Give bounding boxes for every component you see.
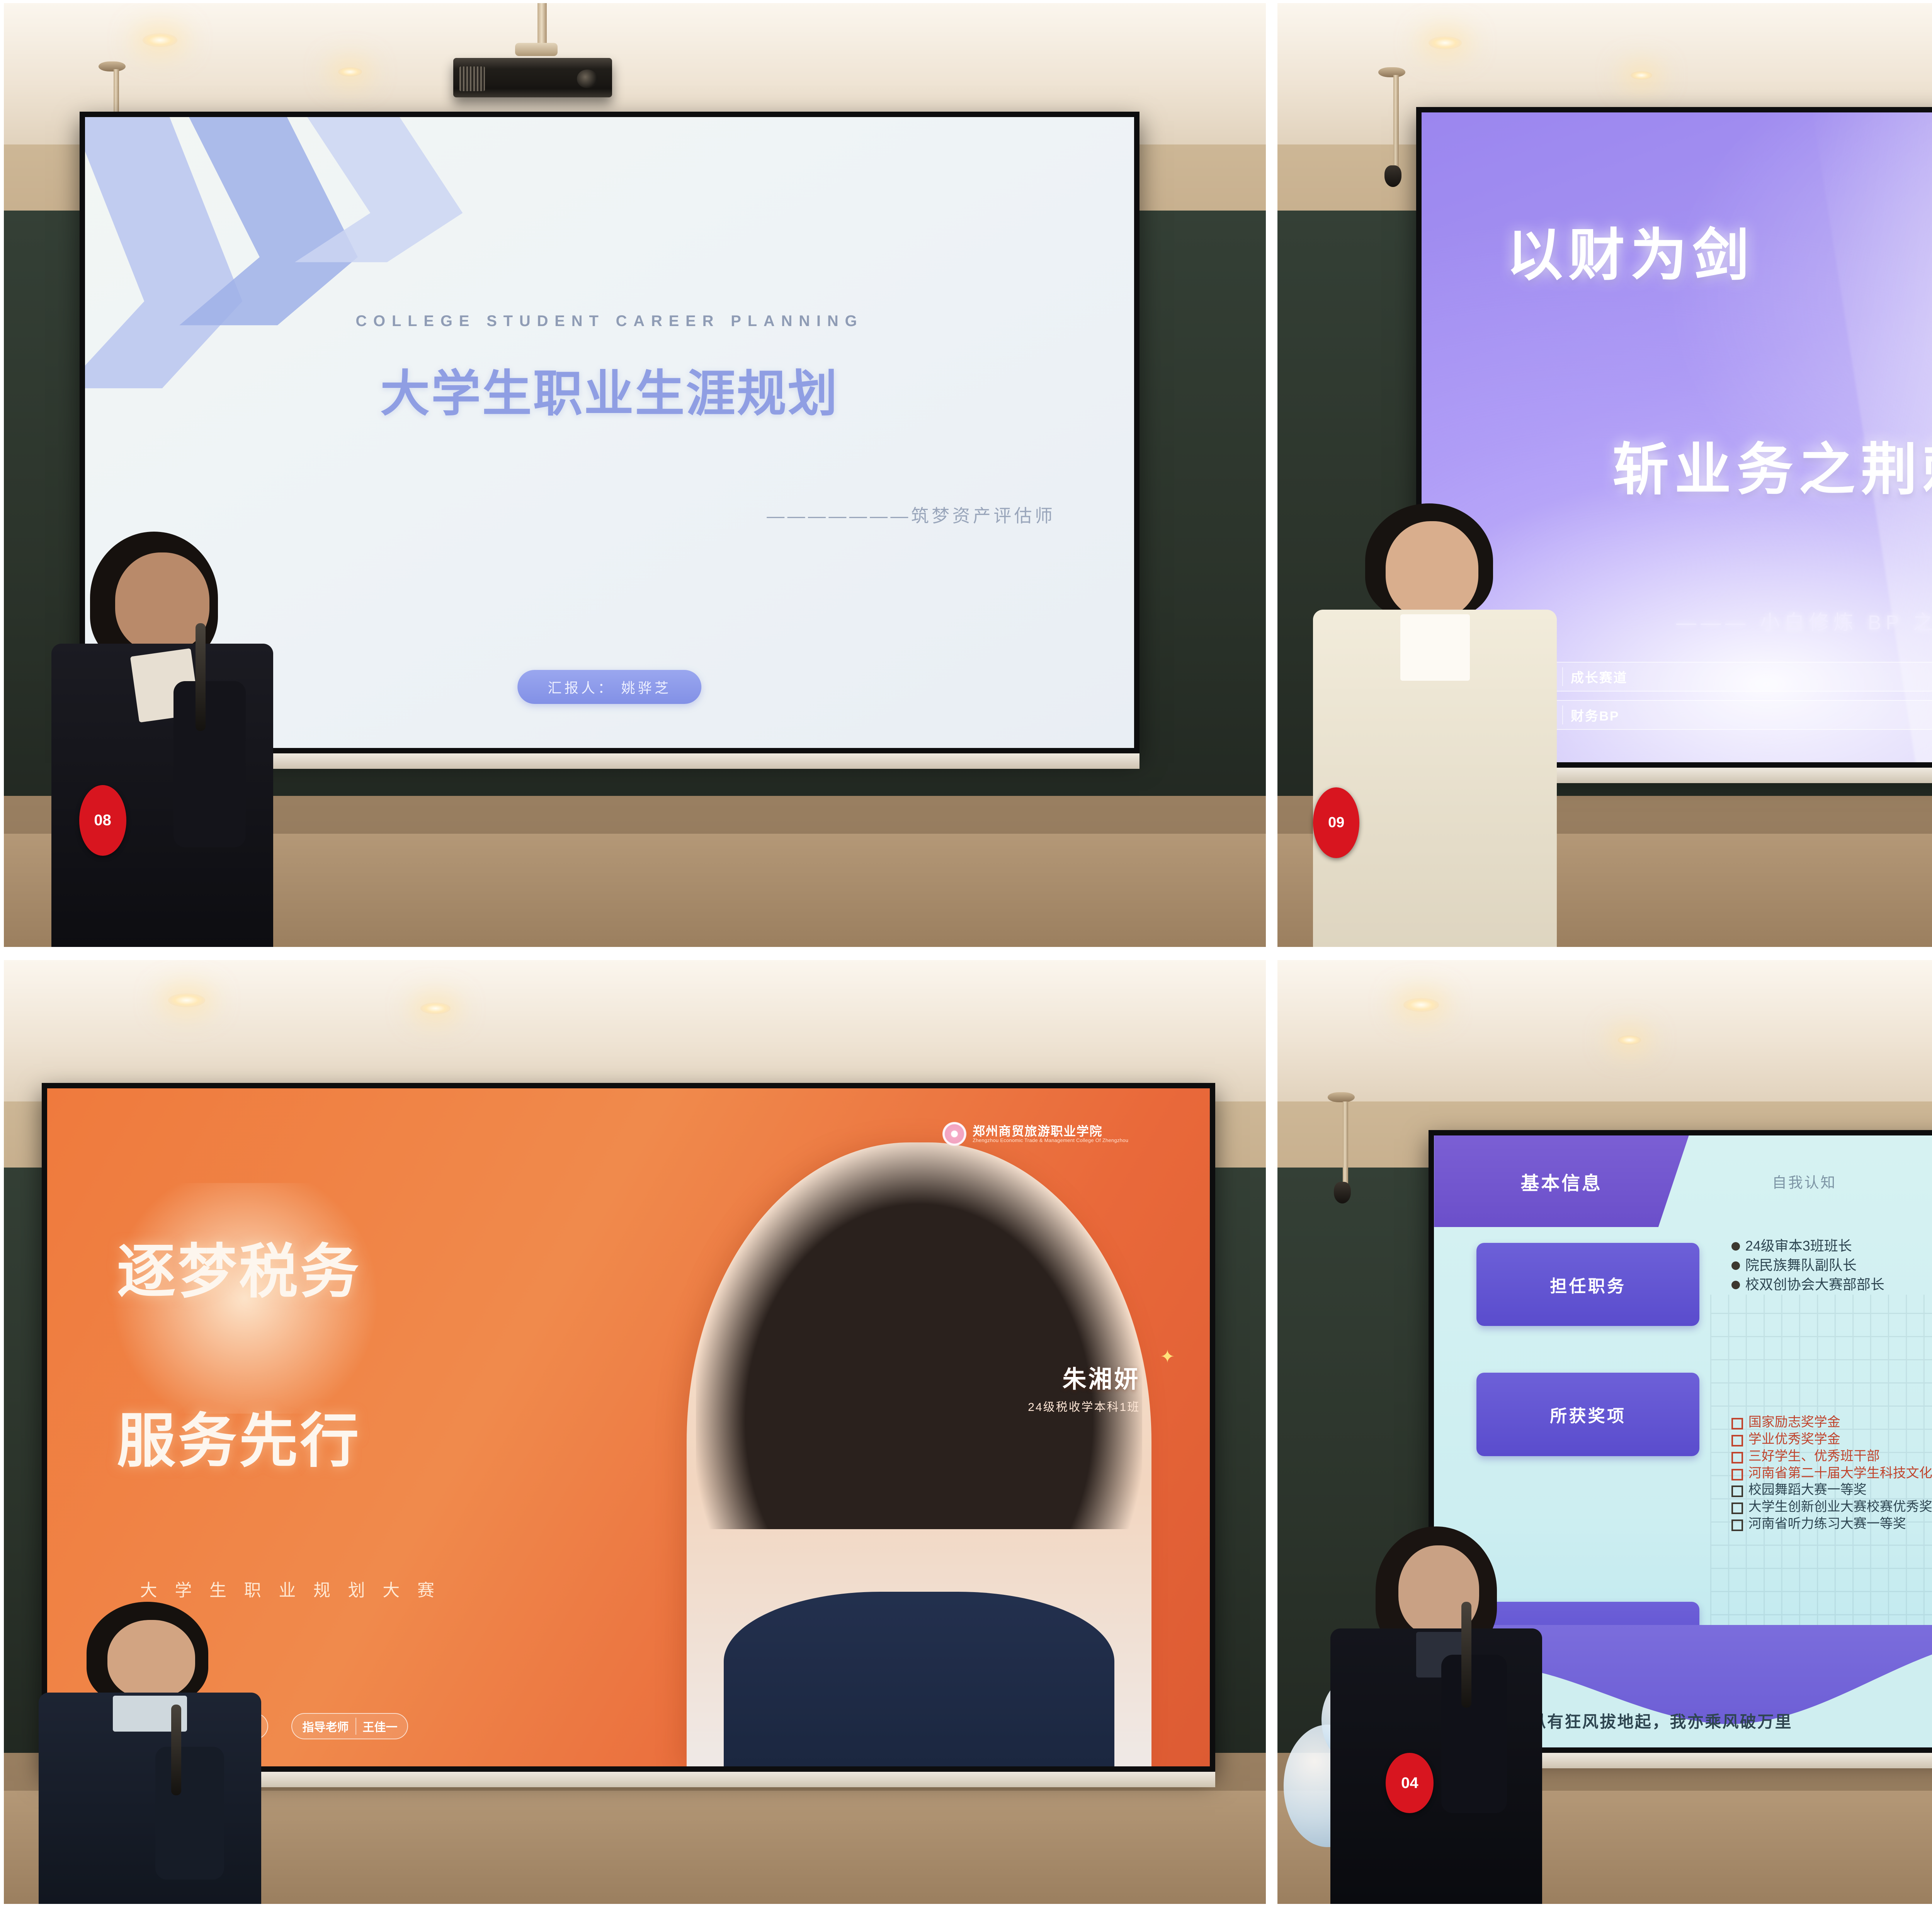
slide-subtitle: ——— 小白修炼 BP 之路 bbox=[1676, 606, 1932, 635]
presenter: 09 bbox=[1290, 503, 1580, 947]
list-item: 河南省听力练习大赛一等奖 bbox=[1731, 1516, 1932, 1532]
handheld-microphone-icon bbox=[1461, 1602, 1471, 1708]
slide-title-line1: 逐梦税务 bbox=[117, 1224, 361, 1309]
list-item: 校园舞蹈大赛一等奖 bbox=[1731, 1482, 1932, 1498]
contestant-number-badge: 08 bbox=[79, 785, 126, 856]
ceiling-light-icon bbox=[420, 1003, 451, 1014]
bullet-dot-icon bbox=[1731, 1261, 1740, 1270]
list-item: 学业优秀奖学金 bbox=[1731, 1431, 1932, 1447]
presenter-arm bbox=[173, 681, 246, 847]
list-item-text: 院民族舞队副队长 bbox=[1745, 1257, 1857, 1274]
list-item-text: 河南省第二十届大学生科技文化节省级三等奖 bbox=[1748, 1465, 1932, 1481]
contestant-number-badge: 04 bbox=[1386, 1753, 1434, 1813]
list-item-text: 校双创协会大赛部部长 bbox=[1745, 1276, 1884, 1293]
positions-columns: 24级审本3班班长 院民族舞队副队长 校双创协会大赛部部长 bbox=[1731, 1237, 1932, 1295]
ceiling bbox=[1277, 960, 1932, 1120]
slide-tabbar: 基本信息 自我认知 职业认知 成长路径 评估调整 bbox=[1434, 1135, 1932, 1227]
mic-ceiling-base bbox=[1378, 67, 1405, 77]
slide-title-line2: 斩业务之荆棘 bbox=[1612, 424, 1932, 506]
list-item-text: 24级审本3班班长 bbox=[1745, 1237, 1852, 1254]
list-item-text: 学业优秀奖学金 bbox=[1748, 1431, 1840, 1447]
ceiling-light-icon bbox=[1429, 36, 1462, 49]
list-item-text: 三好学生、优秀班干部 bbox=[1748, 1448, 1880, 1464]
section-chip-awards: 所获奖项 bbox=[1476, 1373, 1699, 1456]
projector-vent bbox=[459, 66, 485, 91]
slide-eyebrow: COLLEGE STUDENT CAREER PLANNING bbox=[85, 313, 1134, 330]
page-title: 大学生职业生涯规划 bbox=[85, 354, 1134, 425]
slide-title-line2: 服务先行 bbox=[117, 1393, 361, 1478]
presenter-arm bbox=[155, 1747, 224, 1880]
handheld-microphone-icon bbox=[171, 1705, 181, 1795]
student-class: 24级税收学本科1班 bbox=[1028, 1397, 1140, 1414]
list-item: 校双创协会大赛部部长 bbox=[1731, 1276, 1932, 1293]
list-item-text: 河南省听力练习大赛一等奖 bbox=[1748, 1516, 1906, 1532]
presenter-arm bbox=[1441, 1655, 1507, 1813]
bullet-dot-icon bbox=[1731, 1281, 1740, 1289]
slide-title-line1: 以财为剑 bbox=[1507, 210, 1755, 291]
checkbox-icon bbox=[1731, 1469, 1743, 1480]
list-item: 河南省第二十届大学生科技文化节省级三等奖 bbox=[1731, 1465, 1932, 1481]
list-item-text: 大学生创新创业大赛校赛优秀奖 bbox=[1748, 1499, 1932, 1515]
mic-ceiling-base bbox=[1328, 1092, 1355, 1102]
checkbox-icon bbox=[1731, 1418, 1743, 1429]
ceiling-light-icon bbox=[1631, 71, 1652, 80]
list-item: 大学生创新创业大赛校赛优秀奖 bbox=[1731, 1499, 1932, 1515]
photo-collage: COLLEGE STUDENT CAREER PLANNING 大学生职业生涯规… bbox=[0, 0, 1932, 1907]
info-tag-value: 王佳一 bbox=[362, 1718, 397, 1735]
presenter-head bbox=[107, 1620, 195, 1698]
info-tag: 指导老师 王佳一 bbox=[291, 1713, 408, 1739]
handheld-microphone-icon bbox=[196, 623, 206, 731]
section-label: 担任职务 bbox=[1550, 1272, 1626, 1297]
bullet-dot-icon bbox=[1731, 1242, 1740, 1251]
projector-pole bbox=[537, 3, 547, 46]
section-chip-positions: 担任职务 bbox=[1476, 1243, 1699, 1326]
list-item: 三好学生、优秀班干部 bbox=[1731, 1448, 1932, 1464]
slide-subtitle: 大 学 生 职 业 规 划 大 赛 bbox=[140, 1576, 441, 1601]
info-tag-key: 指导老师 bbox=[302, 1718, 356, 1735]
portrait-hair bbox=[696, 1142, 1142, 1529]
panel-1: COLLEGE STUDENT CAREER PLANNING 大学生职业生涯规… bbox=[4, 3, 1266, 947]
school-logo: 郑州商贸旅游职业学院 Zhengzhou Economic Trade & Ma… bbox=[942, 1122, 1128, 1146]
list-item-text: 国家励志奖学金 bbox=[1748, 1414, 1840, 1430]
presenter-collar bbox=[1400, 614, 1470, 681]
presenter bbox=[23, 1602, 288, 1904]
ceiling-light-icon bbox=[1403, 998, 1439, 1012]
list-item: 国家励志奖学金 bbox=[1731, 1414, 1932, 1430]
mic-ceiling-base bbox=[99, 61, 126, 71]
mic-hanging-pole bbox=[1393, 75, 1399, 169]
presenter: 08 bbox=[29, 532, 306, 947]
student-name-tag: 朱湘妍 24级税收学本科1班 bbox=[1028, 1360, 1140, 1414]
slide-subtitle: ———————筑梦资产评估师 bbox=[767, 502, 1055, 527]
ceiling-light-icon bbox=[168, 993, 205, 1007]
school-emblem-icon bbox=[942, 1122, 966, 1146]
panel-3: 郑州商贸旅游职业学院 Zhengzhou Economic Trade & Ma… bbox=[4, 960, 1266, 1904]
slide-tabs: 自我认知 职业认知 成长路径 评估调整 bbox=[1689, 1135, 1932, 1227]
student-name: 朱湘妍 bbox=[1028, 1360, 1140, 1394]
checkbox-icon bbox=[1731, 1502, 1743, 1514]
checkbox-icon bbox=[1731, 1435, 1743, 1446]
awards-list: 国家励志奖学金 学业优秀奖学金 三好学生、优秀班干部 河南省第二十届大 bbox=[1731, 1414, 1932, 1533]
badge-number: 04 bbox=[1401, 1774, 1418, 1792]
checkbox-icon bbox=[1731, 1519, 1743, 1531]
positions-column-left: 24级审本3班班长 院民族舞队副队长 校双创协会大赛部部长 bbox=[1731, 1237, 1932, 1295]
mic-hanging-pole bbox=[1343, 1101, 1348, 1186]
portrait-collar bbox=[724, 1592, 1114, 1766]
checkbox-icon bbox=[1731, 1485, 1743, 1497]
tab-self-awareness[interactable]: 自我认知 bbox=[1772, 1171, 1837, 1192]
ceiling-light-icon bbox=[143, 33, 177, 47]
panel-2: ➦ 以财为剑 斩业务之荆棘 ——— 小白修炼 BP 之路 参赛组别 成长赛道 参… bbox=[1277, 3, 1932, 947]
badge-number: 08 bbox=[94, 812, 111, 829]
projector-icon bbox=[453, 58, 612, 98]
star-icon: ✦ bbox=[1160, 1346, 1175, 1367]
list-item-text: 校园舞蹈大赛一等奖 bbox=[1748, 1482, 1867, 1498]
section-label: 所获奖项 bbox=[1550, 1402, 1626, 1427]
list-item: 院民族舞队副队长 bbox=[1731, 1257, 1932, 1274]
hanging-microphone-icon bbox=[1384, 165, 1401, 187]
list-item: 24级审本3班班长 bbox=[1731, 1237, 1932, 1254]
checkbox-icon bbox=[1731, 1452, 1743, 1463]
student-portrait-photo bbox=[687, 1142, 1152, 1766]
projector-lens bbox=[577, 70, 597, 88]
tab-active-basic-info[interactable]: 基本信息 bbox=[1434, 1135, 1689, 1227]
school-name-en: Zhengzhou Economic Trade & Management Co… bbox=[973, 1138, 1128, 1143]
presenter: 04 bbox=[1315, 1526, 1567, 1904]
projector-mount bbox=[515, 43, 558, 56]
presenter-pill: 汇报人： 姚骅芝 bbox=[518, 670, 702, 704]
badge-number: 09 bbox=[1328, 814, 1344, 831]
school-name-cn: 郑州商贸旅游职业学院 bbox=[973, 1125, 1128, 1138]
tab-label: 基本信息 bbox=[1520, 1168, 1602, 1195]
contestant-number-badge: 09 bbox=[1313, 787, 1359, 858]
panel-4: 基本信息 自我认知 职业认知 成长路径 评估调整 担任职务 所获奖项 bbox=[1277, 960, 1932, 1904]
motto-text: 纵有狂风拔地起，我亦乘风破万里 bbox=[1530, 1709, 1793, 1732]
presenter-head bbox=[1386, 521, 1478, 619]
